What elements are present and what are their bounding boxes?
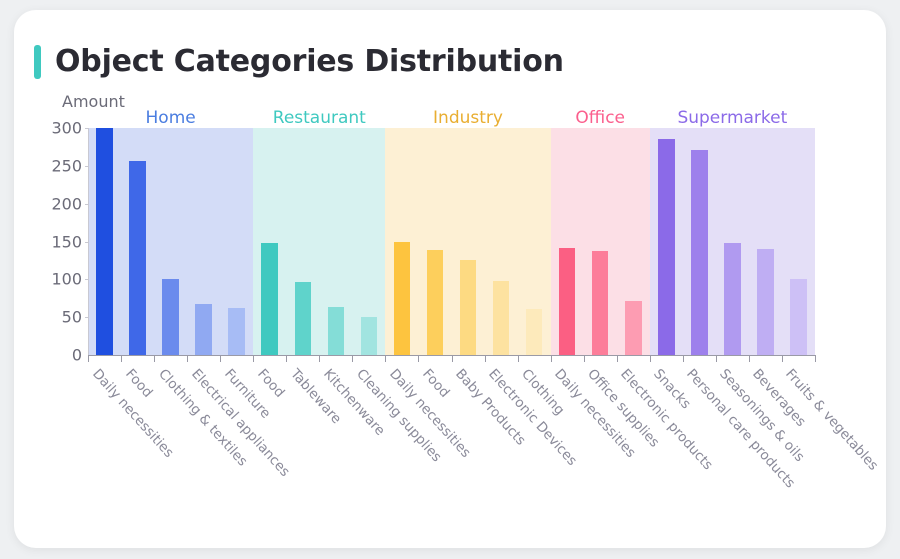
y-tick-mark: [85, 279, 89, 280]
chart-card: Object Categories Distribution Amount 05…: [14, 10, 886, 548]
bar[interactable]: [295, 282, 312, 355]
x-tick-mark: [551, 355, 552, 362]
group-label-industry: Industry: [433, 108, 503, 128]
x-tick-mark: [319, 355, 320, 362]
y-tick-mark: [85, 242, 89, 243]
x-tick-mark: [220, 355, 221, 362]
bar[interactable]: [757, 249, 774, 355]
bar[interactable]: [790, 279, 807, 355]
bar[interactable]: [96, 128, 113, 355]
x-tick-mark: [716, 355, 717, 362]
bar[interactable]: [493, 281, 510, 355]
y-axis-tick-labels: 050100150200250300: [14, 10, 82, 548]
y-tick-label: 100: [51, 270, 82, 289]
x-tick-mark: [121, 355, 122, 362]
x-tick-mark: [683, 355, 684, 362]
bar[interactable]: [261, 243, 278, 355]
x-tick-mark: [418, 355, 419, 362]
x-tick-mark: [452, 355, 453, 362]
x-tick-mark: [815, 355, 816, 362]
x-tick-mark: [187, 355, 188, 362]
x-tick-mark: [154, 355, 155, 362]
x-tick-mark: [253, 355, 254, 362]
bar[interactable]: [724, 243, 741, 355]
y-tick-mark: [85, 166, 89, 167]
bar[interactable]: [162, 279, 179, 355]
y-tick-label: 250: [51, 156, 82, 175]
y-tick-label: 200: [51, 194, 82, 213]
x-tick-mark: [650, 355, 651, 362]
bar[interactable]: [361, 317, 378, 355]
bar[interactable]: [129, 161, 146, 355]
bar[interactable]: [228, 308, 245, 355]
bar[interactable]: [559, 248, 576, 355]
x-tick-mark: [617, 355, 618, 362]
x-tick-mark: [352, 355, 353, 362]
bar[interactable]: [658, 139, 675, 355]
x-tick-mark: [385, 355, 386, 362]
y-tick-mark: [85, 317, 89, 318]
bar[interactable]: [592, 251, 609, 355]
y-tick-mark: [85, 128, 89, 129]
bar-chart: 050100150200250300 HomeRestaurantIndustr…: [14, 10, 886, 548]
y-tick-mark: [85, 204, 89, 205]
bar[interactable]: [460, 260, 477, 355]
x-tick-mark: [749, 355, 750, 362]
bar[interactable]: [394, 242, 411, 356]
x-tick-mark: [88, 355, 89, 362]
x-tick-mark: [485, 355, 486, 362]
group-label-supermarket: Supermarket: [677, 108, 787, 128]
y-tick-label: 150: [51, 232, 82, 251]
y-tick-label: 0: [72, 346, 82, 365]
bar[interactable]: [625, 301, 642, 355]
bar[interactable]: [427, 250, 444, 355]
bar[interactable]: [526, 309, 543, 355]
x-tick-mark: [584, 355, 585, 362]
group-label-home: Home: [146, 108, 196, 128]
bar[interactable]: [328, 307, 345, 355]
x-tick-mark: [286, 355, 287, 362]
x-tick-mark: [782, 355, 783, 362]
bar[interactable]: [691, 150, 708, 355]
group-label-restaurant: Restaurant: [273, 108, 366, 128]
x-tick-mark: [518, 355, 519, 362]
y-tick-label: 300: [51, 119, 82, 138]
bar[interactable]: [195, 304, 212, 355]
y-tick-label: 50: [62, 308, 82, 327]
group-label-office: Office: [575, 108, 625, 128]
